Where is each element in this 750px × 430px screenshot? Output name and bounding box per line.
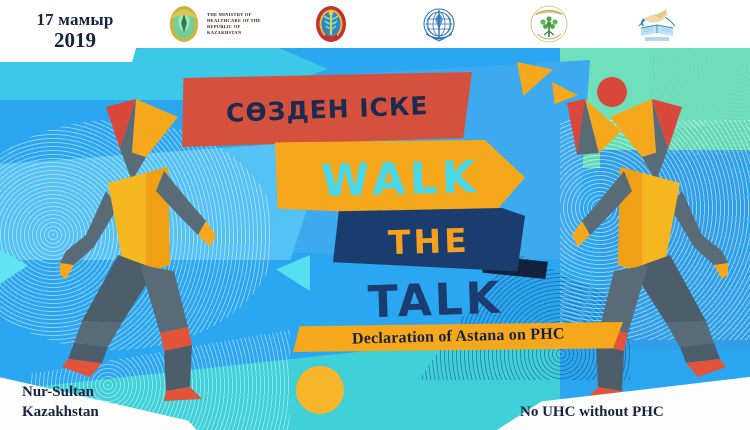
date-panel: 17 мамыр 2019 (0, 0, 150, 62)
location-block: Nur-Sultan Kazakhstan (22, 382, 99, 423)
location-city: Nur-Sultan (22, 382, 99, 402)
ministry-caption: THE MINISTRY OF HEALTHCARE OF THE REPUBL… (207, 12, 261, 37)
yellow-circle-shape (296, 366, 344, 414)
talk-text: TALK (367, 272, 503, 328)
slogan-text: No UHC without PHC (520, 404, 664, 421)
talk-wordmark: TALK (330, 272, 540, 328)
subtitle-text: Declaration of Astana on PHC (351, 325, 564, 348)
kazakh-headline-text: СӨЗДЕН ІСКЕ (225, 91, 428, 128)
walking-figure-right (558, 95, 728, 405)
kazakhstan-ministry-of-healthcare-logo (165, 4, 203, 44)
poster-canvas: СӨЗДЕН ІСКЕ WALK THE TALK Declaration of… (0, 0, 750, 430)
person-and-book-logo (635, 4, 679, 44)
the-text: THE (388, 220, 471, 262)
walk-text: WALK (320, 151, 480, 206)
subtitle-banner: Declaration of Astana on PHC (293, 322, 623, 352)
military-medical-emblem-logo (313, 4, 349, 44)
logo-cell-ministry: THE MINISTRY OF HEALTHCARE OF THE REPUBL… (165, 4, 261, 44)
world-health-organization-logo (421, 4, 457, 44)
date-day-month: 17 мамыр (36, 11, 113, 29)
green-tree-health-logo (529, 4, 569, 44)
date-year: 2019 (54, 29, 96, 51)
kazakh-headline-banner: СӨЗДЕН ІСКЕ (182, 72, 472, 147)
location-country: Kazakhstan (22, 402, 99, 422)
walk-banner: WALK (275, 140, 525, 218)
logo-row: THE MINISTRY OF HEALTHCARE OF THE REPUBL… (165, 0, 750, 48)
